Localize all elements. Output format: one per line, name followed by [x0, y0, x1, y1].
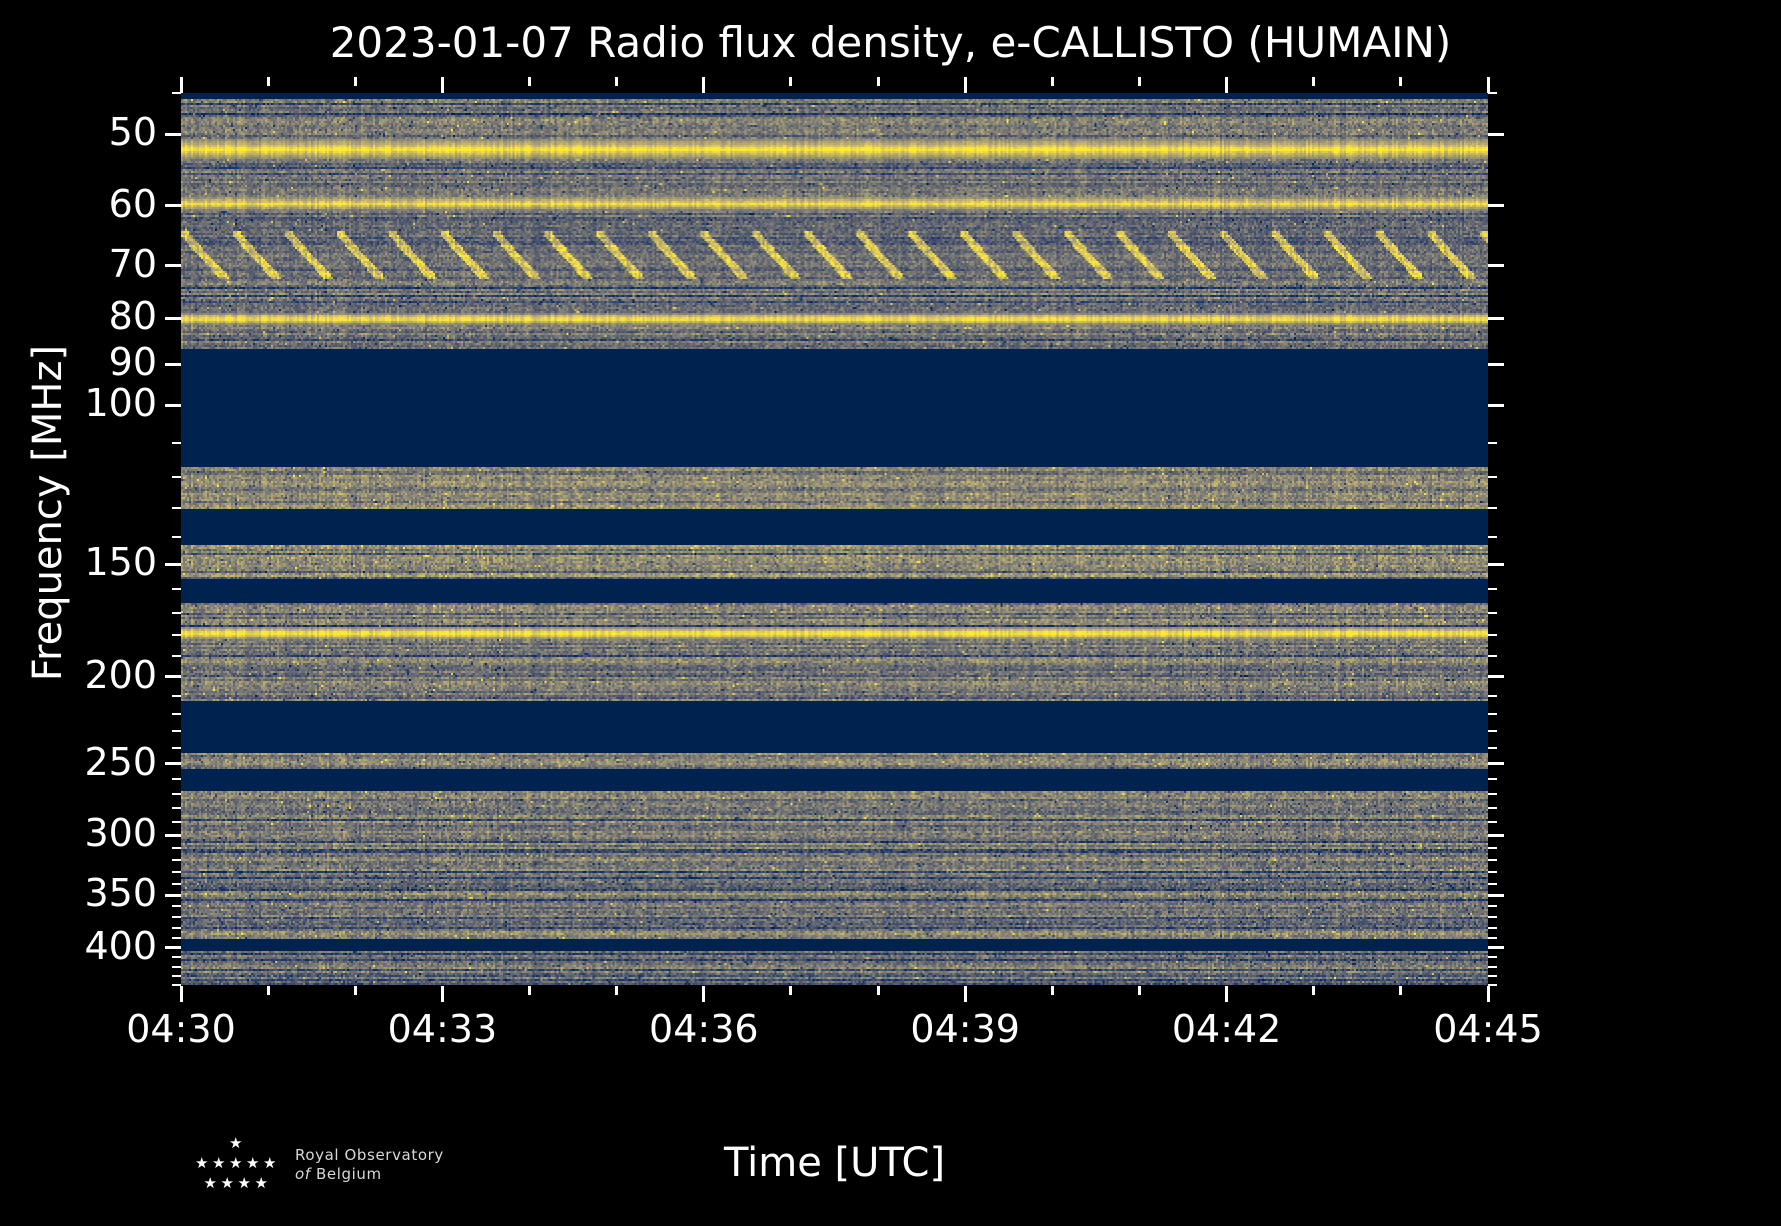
- y-minor-tick: [172, 612, 181, 614]
- y-tick-150: [165, 563, 181, 566]
- y-minor-tick: [172, 793, 181, 795]
- x-minor-tick-top: [1312, 77, 1315, 86]
- y-minor-tick-right: [1488, 713, 1497, 715]
- y-tick-right-300: [1488, 834, 1504, 837]
- y-tick-right-200: [1488, 675, 1504, 678]
- star-icon: ★: [238, 1176, 251, 1191]
- y-minor-tick-right: [1488, 871, 1497, 873]
- y-tick-200: [165, 675, 181, 678]
- y-minor-tick-right: [1488, 747, 1497, 749]
- y-minor-tick: [172, 956, 181, 958]
- y-tick-right-90: [1488, 363, 1504, 366]
- y-minor-tick: [172, 655, 181, 657]
- logo-line-1: Royal Observatory: [295, 1146, 444, 1165]
- y-minor-tick: [172, 730, 181, 732]
- y-tick-90: [165, 363, 181, 366]
- y-tick-right-250: [1488, 762, 1504, 765]
- x-tick-label-04:42: 04:42: [1172, 1010, 1282, 1048]
- x-minor-tick-top: [1399, 77, 1402, 86]
- y-minor-tick: [172, 536, 181, 538]
- x-minor-tick-top: [354, 77, 357, 86]
- x-tick-04:36: [702, 986, 705, 1002]
- x-minor-tick: [615, 986, 618, 995]
- y-tick-right-400: [1488, 946, 1504, 949]
- y-tick-label-200: 200: [84, 656, 157, 694]
- y-minor-tick-right: [1488, 634, 1497, 636]
- x-tick-04:30: [180, 986, 183, 1002]
- y-minor-tick: [172, 937, 181, 939]
- y-minor-tick: [172, 507, 181, 509]
- logo-text: Royal Observatory of Belgium: [295, 1146, 444, 1184]
- y-minor-tick-right: [1488, 905, 1497, 907]
- y-tick-400: [165, 946, 181, 949]
- x-minor-tick-top: [615, 77, 618, 86]
- y-minor-tick-right: [1488, 612, 1497, 614]
- star-icon: ★: [221, 1176, 234, 1191]
- x-tick-label-04:45: 04:45: [1433, 1010, 1543, 1048]
- y-minor-tick: [172, 916, 181, 918]
- figure-canvas: 2023-01-07 Radio flux density, e-CALLIST…: [0, 0, 1781, 1226]
- x-minor-tick: [789, 986, 792, 995]
- x-tick-04:39: [964, 986, 967, 1002]
- logo-line-2: of Belgium: [295, 1165, 444, 1184]
- x-tick-top-04:42: [1225, 77, 1228, 93]
- y-minor-tick-right: [1488, 807, 1497, 809]
- y-minor-tick-right: [1488, 847, 1497, 849]
- y-tick-right-150: [1488, 563, 1504, 566]
- y-minor-tick: [172, 695, 181, 697]
- y-minor-tick: [172, 927, 181, 929]
- x-minor-tick-top: [528, 77, 531, 86]
- x-minor-tick: [1399, 986, 1402, 995]
- y-minor-tick-right: [1488, 821, 1497, 823]
- y-tick-80: [165, 317, 181, 320]
- y-tick-70: [165, 264, 181, 267]
- y-minor-tick: [172, 476, 181, 478]
- y-tick-50: [165, 133, 181, 136]
- x-minor-tick-top: [267, 77, 270, 86]
- y-minor-tick-right: [1488, 937, 1497, 939]
- y-minor-tick-right: [1488, 442, 1497, 444]
- x-minor-tick: [1312, 986, 1315, 995]
- y-tick-right-70: [1488, 264, 1504, 267]
- y-minor-tick-right: [1488, 916, 1497, 918]
- y-tick-right-80: [1488, 317, 1504, 320]
- y-minor-tick: [172, 821, 181, 823]
- x-minor-tick: [1051, 986, 1054, 995]
- x-minor-tick-top: [877, 77, 880, 86]
- x-minor-tick: [877, 986, 880, 995]
- y-minor-tick-right: [1488, 975, 1497, 977]
- spectrogram-image: [181, 93, 1488, 985]
- y-minor-tick: [172, 859, 181, 861]
- y-minor-tick: [172, 975, 181, 977]
- x-tick-top-04:33: [441, 77, 444, 93]
- x-minor-tick: [267, 986, 270, 995]
- y-tick-label-300: 300: [84, 814, 157, 852]
- x-tick-label-04:30: 04:30: [126, 1010, 236, 1048]
- y-tick-label-80: 80: [109, 297, 157, 335]
- x-minor-tick-top: [1138, 77, 1141, 86]
- y-tick-label-250: 250: [84, 743, 157, 781]
- x-minor-tick: [528, 986, 531, 995]
- star-icon: ★: [255, 1176, 268, 1191]
- y-tick-right-350: [1488, 894, 1504, 897]
- x-minor-tick: [354, 986, 357, 995]
- y-minor-tick-right: [1488, 476, 1497, 478]
- y-minor-tick-right: [1488, 793, 1497, 795]
- y-minor-tick: [172, 588, 181, 590]
- star-icon: ★: [204, 1176, 217, 1191]
- x-tick-label-04:33: 04:33: [388, 1010, 498, 1048]
- y-tick-60: [165, 204, 181, 207]
- y-tick-right-50: [1488, 133, 1504, 136]
- y-tick-label-350: 350: [84, 874, 157, 912]
- x-tick-04:33: [441, 986, 444, 1002]
- x-tick-top-04:39: [964, 77, 967, 93]
- star-icon: ★: [212, 1156, 225, 1171]
- x-tick-top-04:36: [702, 77, 705, 93]
- x-minor-tick-top: [1051, 77, 1054, 86]
- logo-of-word: of: [295, 1165, 311, 1183]
- y-minor-tick-right: [1488, 507, 1497, 509]
- y-minor-tick-right: [1488, 695, 1497, 697]
- y-minor-tick: [172, 966, 181, 968]
- y-tick-label-90: 90: [109, 343, 157, 381]
- page-title: 2023-01-07 Radio flux density, e-CALLIST…: [0, 18, 1781, 67]
- y-minor-tick-right: [1488, 966, 1497, 968]
- y-minor-tick: [172, 747, 181, 749]
- star-icon: ★: [229, 1156, 242, 1171]
- star-icon: ★: [263, 1156, 276, 1171]
- y-minor-tick-right: [1488, 536, 1497, 538]
- y-minor-tick: [172, 634, 181, 636]
- y-tick-100: [165, 404, 181, 407]
- y-tick-right-100: [1488, 404, 1504, 407]
- y-minor-tick: [172, 905, 181, 907]
- y-minor-tick-right: [1488, 883, 1497, 885]
- royal-observatory-logo: ★★★★★★★★★★ Royal Observatory of Belgium: [185, 1130, 475, 1200]
- y-minor-tick: [172, 442, 181, 444]
- x-minor-tick: [1138, 986, 1141, 995]
- x-tick-top-04:45: [1487, 77, 1490, 93]
- logo-belgium-word: Belgium: [316, 1165, 382, 1183]
- y-axis-label: Frequency [MHz]: [25, 67, 71, 959]
- x-tick-top-04:30: [180, 77, 183, 93]
- y-minor-tick-right: [1488, 859, 1497, 861]
- x-tick-04:42: [1225, 986, 1228, 1002]
- y-tick-right-60: [1488, 204, 1504, 207]
- y-tick-label-400: 400: [84, 927, 157, 965]
- y-tick-label-50: 50: [109, 113, 157, 151]
- y-tick-350: [165, 894, 181, 897]
- x-tick-04:45: [1487, 986, 1490, 1002]
- y-minor-tick-right: [1488, 956, 1497, 958]
- x-minor-tick-top: [789, 77, 792, 86]
- y-minor-tick: [172, 807, 181, 809]
- star-icon: ★: [246, 1156, 259, 1171]
- y-minor-tick-right: [1488, 778, 1497, 780]
- y-minor-tick: [172, 713, 181, 715]
- y-minor-tick-right: [1488, 730, 1497, 732]
- y-tick-label-60: 60: [109, 185, 157, 223]
- y-minor-tick-right: [1488, 655, 1497, 657]
- star-icon: ★: [229, 1136, 242, 1151]
- y-tick-label-70: 70: [109, 245, 157, 283]
- y-minor-tick-right: [1488, 588, 1497, 590]
- y-tick-label-150: 150: [84, 543, 157, 581]
- stars-icon: ★★★★★★★★★★: [185, 1134, 285, 1196]
- y-tick-300: [165, 834, 181, 837]
- y-minor-tick: [172, 883, 181, 885]
- y-minor-tick: [172, 871, 181, 873]
- x-tick-label-04:39: 04:39: [910, 1010, 1020, 1048]
- y-minor-tick-right: [1488, 927, 1497, 929]
- spectrogram-plot[interactable]: [181, 93, 1488, 985]
- y-tick-label-100: 100: [84, 384, 157, 422]
- y-minor-tick: [172, 778, 181, 780]
- y-minor-tick: [172, 847, 181, 849]
- x-tick-label-04:36: 04:36: [649, 1010, 759, 1048]
- y-tick-250: [165, 762, 181, 765]
- star-icon: ★: [195, 1156, 208, 1171]
